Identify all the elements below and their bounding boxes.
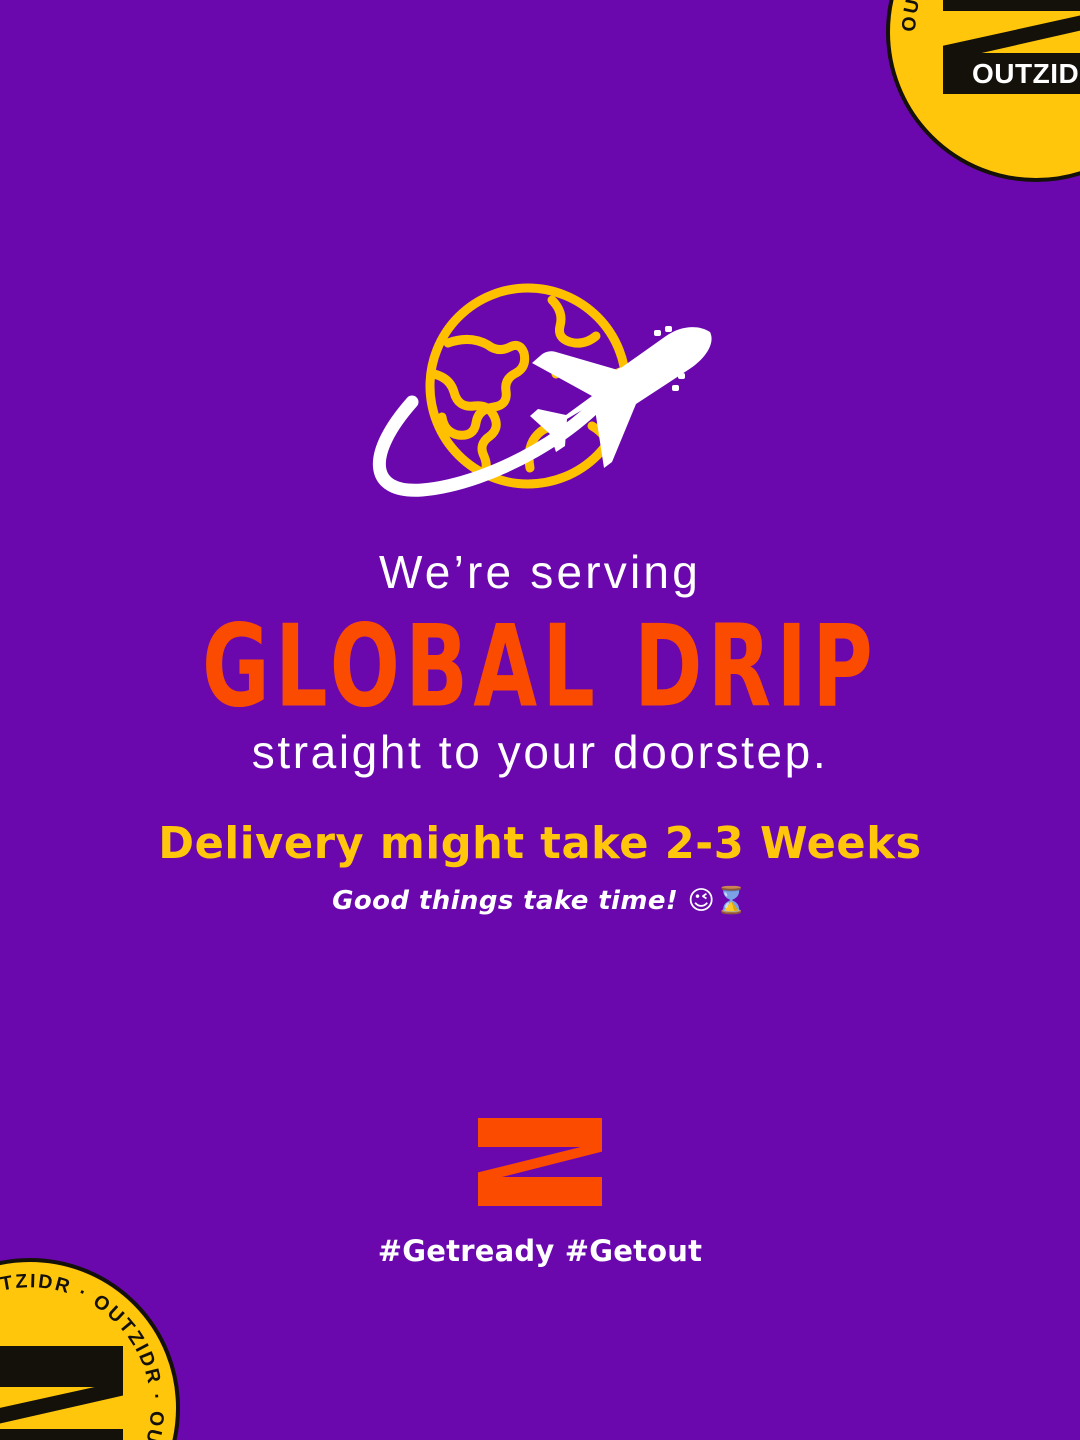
z-top-bar xyxy=(478,1118,602,1147)
z-logo-icon xyxy=(478,1118,602,1206)
wink-hourglass-emoji: 😉⌛ xyxy=(688,886,748,916)
z-top-bar xyxy=(943,0,1080,11)
delivery-notice-block: Delivery might take 2-3 Weeks Good thing… xyxy=(0,818,1080,916)
delivery-notice: Delivery might take 2-3 Weeks xyxy=(11,818,1069,869)
delivery-note-text: Good things take time! xyxy=(332,886,678,916)
footer-brand: #Getready #Getout xyxy=(0,1118,1080,1268)
z-bottom-bar xyxy=(478,1177,602,1206)
subline-text: straight to your doorstep. xyxy=(0,728,1080,776)
promo-poster: OUTZIDR · OUTZIDR · OUTZIDR · OUTZIDR · … xyxy=(0,0,1080,1440)
page-title: GLOBAL DRIP xyxy=(76,610,1005,723)
badge-core-bl: OUTZIDR xyxy=(0,1346,123,1440)
kicker-text: We’re serving xyxy=(0,548,1080,596)
delivery-note: Good things take time! 😉⌛ xyxy=(0,886,1080,916)
z-logo-icon: OUTZIDR xyxy=(943,0,1080,94)
badge-wordmark-tr: OUTZIDR xyxy=(943,53,1080,94)
badge-core-tr: OUTZIDR xyxy=(943,0,1080,94)
outzidr-badge-bottom-left: OUTZIDR · OUTZIDR · OUTZIDR · OUTZIDR · … xyxy=(0,1258,180,1440)
hashtags: #Getready #Getout xyxy=(0,1234,1080,1268)
outzidr-badge-top-right: OUTZIDR · OUTZIDR · OUTZIDR · OUTZIDR · … xyxy=(886,0,1080,182)
globe-airplane-icon xyxy=(360,278,720,510)
badge-wordmark-bl: OUTZIDR xyxy=(0,1429,123,1440)
headline-block: We’re serving GLOBAL DRIP straight to yo… xyxy=(0,548,1080,777)
z-logo-icon: OUTZIDR xyxy=(0,1346,123,1440)
z-top-bar xyxy=(0,1346,123,1387)
